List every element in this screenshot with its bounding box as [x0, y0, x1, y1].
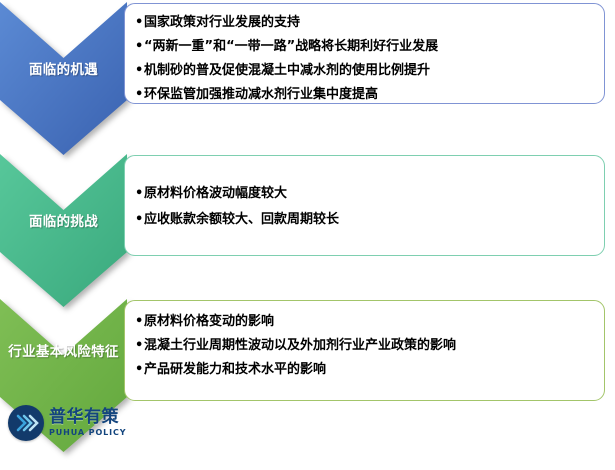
list-item: 环保监管加强推动减水剂行业集中度提高 [135, 83, 592, 107]
bullet-list-challenges: 原材料价格波动幅度较大 应收账款余额较大、回款周期较长 [135, 163, 592, 233]
panel-opportunities: 国家政策对行业发展的支持 “两新一重”和“一带一路”战略将长期利好行业发展 机制… [124, 3, 605, 104]
list-item: 混凝土行业周期性波动以及外加剂行业产业政策的影响 [135, 334, 592, 358]
chevron-arrow-opportunities [0, 0, 127, 155]
panel-risk-features: 原材料价格变动的影响 混凝土行业周期性波动以及外加剂行业产业政策的影响 产品研发… [124, 300, 605, 401]
list-item: 机制砂的普及促使混凝土中减水剂的使用比例提升 [135, 59, 592, 83]
section-opportunities: 面临的机遇 国家政策对行业发展的支持 “两新一重”和“一带一路”战略将长期利好行… [0, 0, 615, 160]
list-item: 应收账款余额较大、回款周期较长 [135, 207, 592, 233]
logo-chevron-icon [8, 405, 44, 441]
list-item: 产品研发能力和技术水平的影响 [135, 358, 592, 382]
logo-text: 普华有策 PUHUA POLICY [49, 409, 126, 437]
list-item: 国家政策对行业发展的支持 [135, 11, 592, 35]
logo: 普华有策 PUHUA POLICY [8, 401, 128, 445]
logo-name-en: PUHUA POLICY [49, 429, 126, 437]
section-challenges: 面临的挑战 原材料价格波动幅度较大 应收账款余额较大、回款周期较长 [0, 152, 615, 304]
panel-challenges: 原材料价格波动幅度较大 应收账款余额较大、回款周期较长 [124, 155, 605, 256]
list-item: 原材料价格波动幅度较大 [135, 181, 592, 207]
bullet-list-opportunities: 国家政策对行业发展的支持 “两新一重”和“一带一路”战略将长期利好行业发展 机制… [135, 11, 592, 107]
logo-name-cn: 普华有策 [49, 409, 126, 426]
list-item: 原材料价格变动的影响 [135, 310, 592, 334]
list-item: “两新一重”和“一带一路”战略将长期利好行业发展 [135, 35, 592, 59]
chevron-arrow-challenges [0, 152, 127, 307]
slide-canvas: 面临的机遇 国家政策对行业发展的支持 “两新一重”和“一带一路”战略将长期利好行… [0, 0, 615, 470]
bullet-list-risk-features: 原材料价格变动的影响 混凝土行业周期性波动以及外加剂行业产业政策的影响 产品研发… [135, 308, 592, 382]
